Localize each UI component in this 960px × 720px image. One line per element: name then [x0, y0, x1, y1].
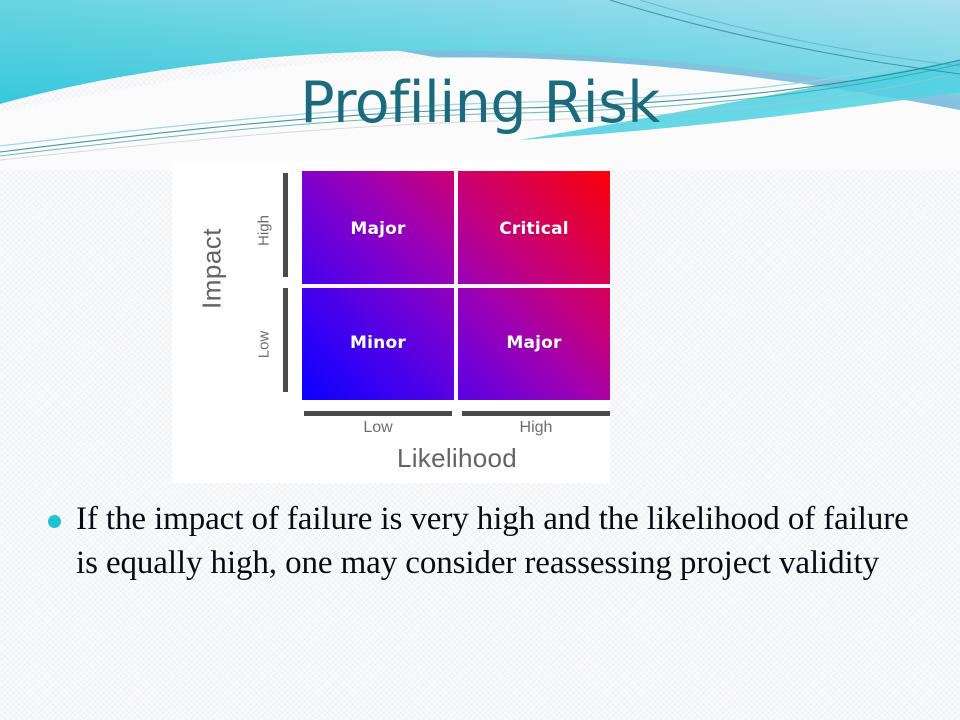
quadrant-label-high-impact-high-likelihood: Critical: [458, 219, 610, 239]
grid-divider-horizontal: [302, 284, 610, 288]
x-axis-title: Likelihood: [304, 443, 610, 474]
risk-matrix-quadrants: Major Critical Minor Major: [302, 171, 610, 400]
y-axis-bar-high: [283, 173, 288, 277]
quadrant-label-high-impact-low-likelihood: Major: [302, 219, 454, 239]
quadrant-label-low-impact-low-likelihood: Minor: [302, 333, 454, 353]
x-axis-tick-low: Low: [304, 419, 452, 437]
x-axis-bar-high: [462, 411, 610, 416]
x-axis-tick-high: High: [462, 419, 610, 437]
y-axis-tick-low: Low: [256, 315, 273, 375]
list-item: If the impact of failure is very high an…: [48, 498, 923, 585]
y-axis-title: Impact: [197, 209, 228, 329]
slide: Profiling Risk Impact High Low Major Cri…: [0, 0, 960, 720]
quadrant-label-low-impact-high-likelihood: Major: [458, 333, 610, 353]
x-axis-bar-low: [304, 411, 452, 416]
page-title: Profiling Risk: [0, 74, 960, 134]
body-content: If the impact of failure is very high an…: [48, 498, 923, 585]
y-axis-bar-low: [283, 288, 288, 392]
list-item-label: If the impact of failure is very high an…: [76, 498, 923, 585]
y-axis-tick-high: High: [256, 201, 273, 261]
risk-matrix-image: Impact High Low Major Critical Minor Maj…: [172, 161, 610, 483]
bullet-dot-icon: [48, 515, 61, 528]
